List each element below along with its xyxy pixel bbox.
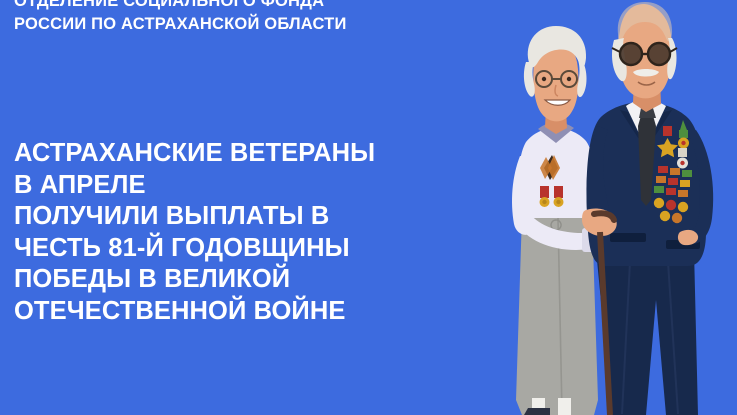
- poster-canvas: ОТДЕЛЕНИЕ СОЦИАЛЬНОГО ФОНДА РОССИИ ПО АС…: [0, 0, 737, 415]
- page-headline: АСТРАХАНСКИЕ ВЕТЕРАНЫ В АПРЕЛЕ ПОЛУЧИЛИ …: [14, 138, 484, 327]
- veteran-couple-illustration: [470, 0, 737, 415]
- organisation-title: ОТДЕЛЕНИЕ СОЦИАЛЬНОГО ФОНДА РОССИИ ПО АС…: [14, 0, 454, 36]
